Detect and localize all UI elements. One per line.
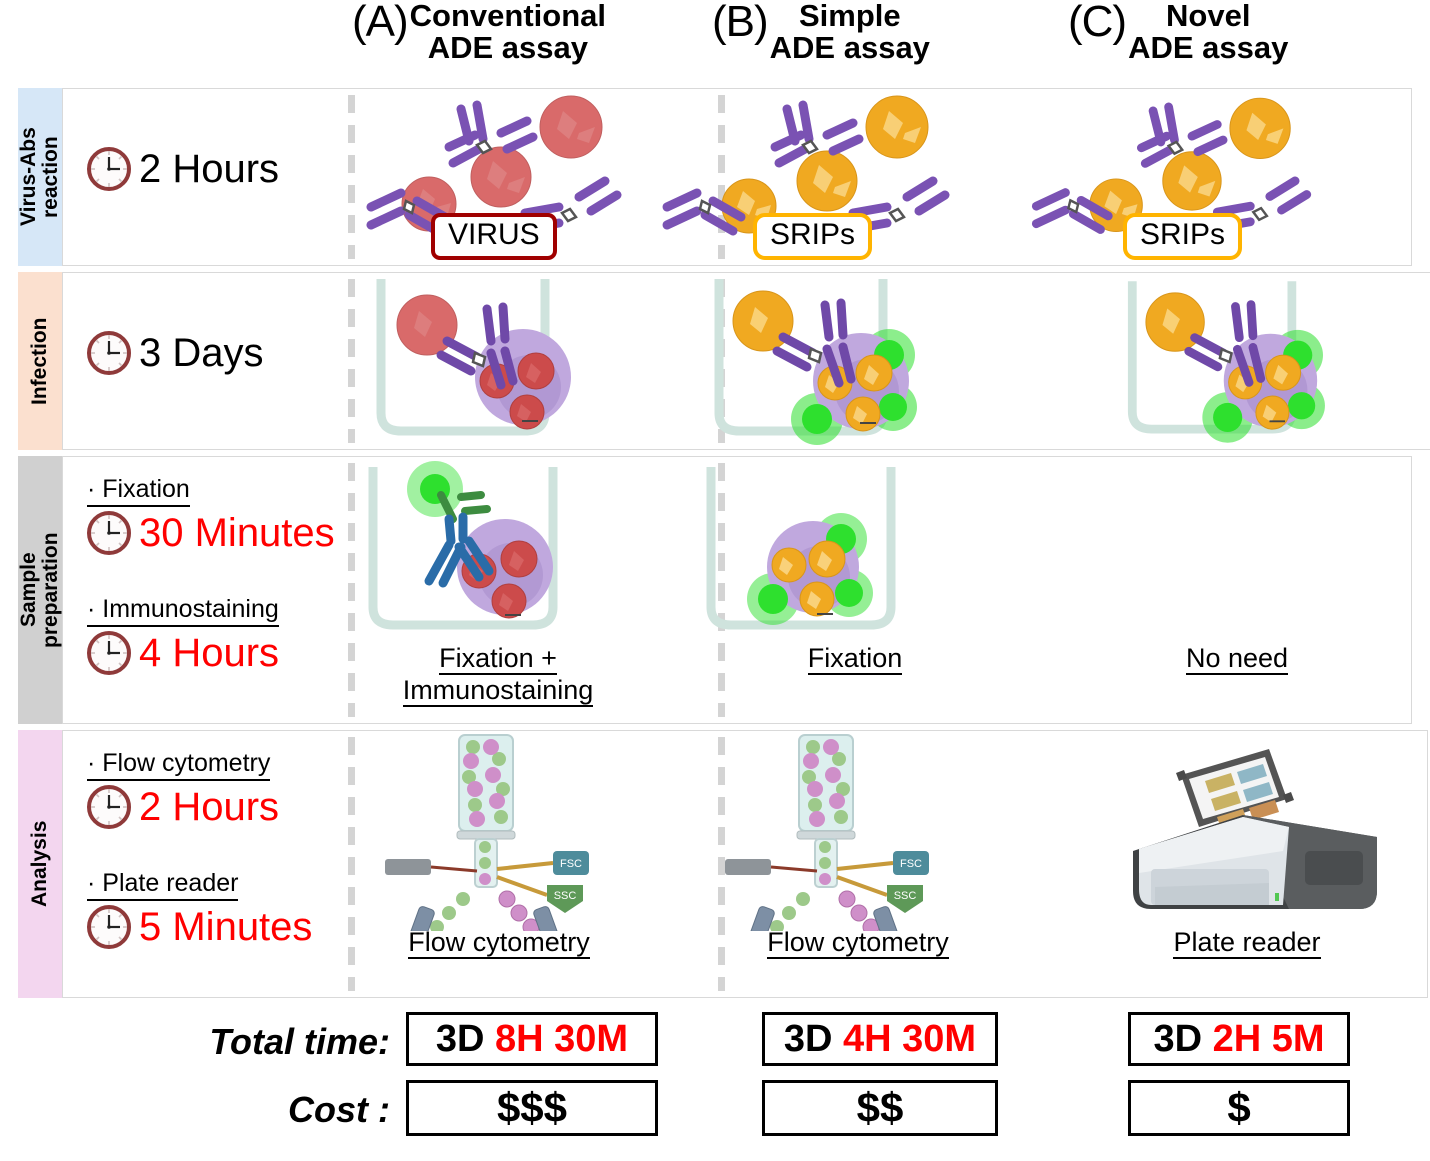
column-header-c: (C) Novel ADE assay <box>1068 0 1288 63</box>
column-title-b-line1: Simple <box>799 0 901 33</box>
row-label-virus-abs-reaction: Virus-Absreaction <box>18 88 62 266</box>
well-with-fixed-cell-illustration <box>693 457 1063 647</box>
caption-line1: Flow cytometry <box>767 927 949 959</box>
time-cell-virus-abs: 2 Hours <box>63 89 349 265</box>
caption-line1: No need <box>1186 643 1288 675</box>
column-title-c-line1: Novel <box>1166 0 1250 33</box>
clock-icon <box>85 509 133 557</box>
time-value-immunostaining: 4 Hours <box>139 633 279 673</box>
total-time-box-a: 3D 8H 30M <box>406 1012 658 1066</box>
column-title-a-line1: Conventional <box>410 0 606 33</box>
row-body-sample-preparation: · Fixation <box>62 456 1412 724</box>
total-time-label: Total time: <box>110 1024 390 1060</box>
caption-line1: Flow cytometry <box>408 927 590 959</box>
time-value-fixation: 30 Minutes <box>139 513 335 553</box>
row-analysis: Analysis · Flow cytometry <box>18 730 1412 998</box>
cost-value-a: $$$ <box>497 1087 567 1129</box>
time-entry-plate-reader: 5 Minutes <box>63 903 349 951</box>
illustration-cell-c-sample-prep: No need <box>1063 457 1411 723</box>
total-time-days-b: 3D <box>784 1020 833 1058</box>
column-title-b: Simple ADE assay <box>770 0 930 63</box>
caption-c-analysis: Plate reader <box>1067 927 1427 959</box>
row-label-sample-preparation: Samplepreparation <box>18 456 62 724</box>
illustration-cell-a-analysis: FSC SSC Flow cytometry <box>349 731 649 997</box>
illustration-cell-a-virus-abs: VIRUS <box>349 89 641 265</box>
illustration-cell-b-analysis: FSC SSC Flow cytometry <box>649 731 1067 997</box>
total-time-box-b: 3D 4H 30M <box>762 1012 998 1066</box>
srips-label-chip: SRIPs <box>1123 213 1242 260</box>
total-time-hm-a: 8H 30M <box>495 1020 628 1058</box>
time-sublabel-fixation: · Fixation <box>87 475 190 507</box>
row-body-virus-abs-reaction: 2 Hours <box>62 88 1412 266</box>
total-time-box-c: 3D 2H 5M <box>1128 1012 1350 1066</box>
time-entry-immunostaining: 4 Hours <box>63 629 349 677</box>
virus-label-chip: VIRUS <box>431 213 557 260</box>
row-infection: Infection <box>18 272 1412 450</box>
time-entry-flow-cytometry: 2 Hours <box>63 783 349 831</box>
time-cell-sample-preparation: · Fixation <box>63 457 349 723</box>
ssc-label: SSC <box>894 890 917 902</box>
caption-line1: Fixation + <box>439 643 557 675</box>
clock-icon <box>85 783 133 831</box>
row-label-line1: Infection <box>29 317 51 405</box>
row-label-infection: Infection <box>18 272 62 450</box>
column-title-b-line2: ADE assay <box>770 32 930 64</box>
time-sublabel-immunostaining: · Immunostaining <box>87 595 279 627</box>
well-with-cell-infected-by-srip-green-illustration <box>1107 273 1430 449</box>
column-headers: (A) Conventional ADE assay (B) Simple AD… <box>0 0 1430 88</box>
clock-icon <box>85 629 133 677</box>
column-title-c: Novel ADE assay <box>1128 0 1288 63</box>
well-with-immunostained-cell-illustration <box>355 457 647 647</box>
caption-line2: Immunostaining <box>403 675 594 707</box>
caption-b-sample-prep: Fixation <box>647 643 1063 675</box>
row-body-analysis: · Flow cytometry <box>62 730 1428 998</box>
time-cell-analysis: · Flow cytometry <box>63 731 349 997</box>
time-entry: 2 Hours <box>63 145 349 193</box>
caption-a-sample-prep: Fixation + Immunostaining <box>349 643 647 707</box>
time-value: 2 Hours <box>139 149 279 189</box>
caption-c-sample-prep: No need <box>1063 643 1411 675</box>
cost-label: Cost : <box>110 1092 390 1128</box>
caption-b-analysis: Flow cytometry <box>649 927 1067 959</box>
ssc-label: SSC <box>554 890 577 902</box>
time-sublabel-flow-cytometry: · Flow cytometry <box>87 749 270 781</box>
cost-box-a: $$$ <box>406 1080 658 1136</box>
illustration-cell-b-infection <box>647 273 1063 449</box>
total-time-days-c: 3D <box>1153 1020 1202 1058</box>
cost-value-c: $ <box>1227 1087 1250 1129</box>
total-time-hm-c: 2H 5M <box>1213 1020 1325 1058</box>
clock-icon <box>85 329 133 377</box>
well-with-cell-infected-by-virus-illustration <box>355 273 647 449</box>
illustration-cell-c-virus-abs: SRIPs <box>1011 89 1411 265</box>
time-cell-infection: 3 Days <box>63 273 349 449</box>
time-entry-fixation: 30 Minutes <box>63 509 349 557</box>
clock-icon <box>85 903 133 951</box>
flow-cytometer-illustration: FSC SSC <box>357 731 649 931</box>
row-label-line2: preparation <box>39 532 62 648</box>
time-value-plate-reader: 5 Minutes <box>139 907 312 947</box>
column-title-a-line2: ADE assay <box>410 32 606 64</box>
column-tag-b: (B) <box>712 0 768 44</box>
total-time-hm-b: 4H 30M <box>843 1020 976 1058</box>
row-label-line2: reaction <box>39 136 62 218</box>
column-header-a: (A) Conventional ADE assay <box>352 0 606 63</box>
row-label-line1: Analysis <box>29 821 51 907</box>
workflow-grid: Virus-Absreaction <box>18 88 1412 1004</box>
caption-line1: Fixation <box>808 643 903 675</box>
cost-box-b: $$ <box>762 1080 998 1136</box>
column-title-a: Conventional ADE assay <box>410 0 606 63</box>
row-sample-preparation: Samplepreparation · Fixation <box>18 456 1412 724</box>
row-label-line1: Virus-Abs <box>17 128 40 227</box>
illustration-cell-b-virus-abs: SRIPs <box>641 89 1011 265</box>
illustration-cell-c-analysis: Plate reader <box>1067 731 1427 997</box>
column-tag-c: (C) <box>1068 0 1126 44</box>
column-header-b: (B) Simple ADE assay <box>712 0 930 63</box>
srips-label-chip: SRIPs <box>753 213 872 260</box>
illustration-cell-c-infection <box>1063 273 1430 449</box>
illustration-cell-a-infection <box>349 273 647 449</box>
total-time-days-a: 3D <box>436 1020 485 1058</box>
illustration-cell-b-sample-prep: Fixation <box>647 457 1063 723</box>
fsc-label: FSC <box>900 858 922 870</box>
cost-value-b: $$ <box>857 1087 904 1129</box>
row-label-line1: Sample <box>17 553 40 628</box>
flow-cytometer-illustration: FSC SSC <box>697 731 1067 931</box>
column-title-c-line2: ADE assay <box>1128 32 1288 64</box>
row-virus-abs-reaction: Virus-Absreaction <box>18 88 1412 266</box>
column-tag-a: (A) <box>352 0 408 44</box>
plate-reader-illustration <box>1087 731 1427 931</box>
row-body-infection: 3 Days <box>62 272 1430 450</box>
caption-line1: Plate reader <box>1173 927 1320 959</box>
summary-section: Total time: Cost : 3D 8H 30M $$$ 3D 4H 3… <box>0 1002 1430 1152</box>
time-value-flow-cytometry: 2 Hours <box>139 787 279 827</box>
row-label-analysis: Analysis <box>18 730 62 998</box>
caption-a-analysis: Flow cytometry <box>349 927 649 959</box>
time-value: 3 Days <box>139 333 264 373</box>
well-with-cell-infected-by-srip-green-illustration <box>693 273 1063 449</box>
fsc-label: FSC <box>560 858 582 870</box>
clock-icon <box>85 145 133 193</box>
time-entry: 3 Days <box>63 329 349 377</box>
cost-box-c: $ <box>1128 1080 1350 1136</box>
time-sublabel-plate-reader: · Plate reader <box>87 869 238 901</box>
illustration-cell-a-sample-prep: Fixation + Immunostaining <box>349 457 647 723</box>
